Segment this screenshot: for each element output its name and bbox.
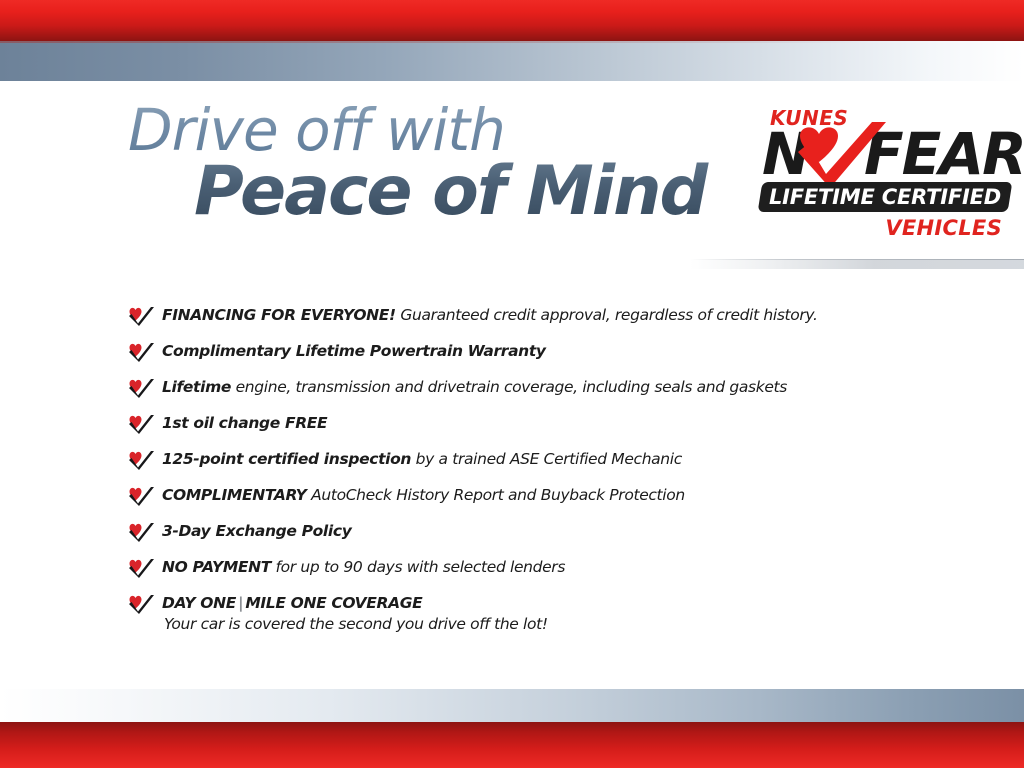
list-item-text: 125-point certified inspection by a trai…	[162, 449, 928, 469]
bottom-red-band	[0, 722, 1024, 768]
headline: Drive off with Peace of Mind	[128, 99, 748, 229]
list-item-strong: 125-point certified inspection	[162, 450, 411, 468]
list-item-normal: AutoCheck History Report and Buyback Pro…	[307, 486, 685, 504]
header-divider	[690, 259, 1024, 269]
list-item: FINANCING FOR EVERYONE! Guaranteed credi…	[128, 305, 928, 327]
heart-check-icon	[128, 486, 154, 506]
list-item-strong: 3-Day Exchange Policy	[162, 522, 351, 540]
list-item: NO PAYMENT for up to 90 days with select…	[128, 557, 928, 579]
list-item-strong: Lifetime	[162, 378, 231, 396]
list-item: Complimentary Lifetime Powertrain Warran…	[128, 341, 928, 363]
list-item-normal: engine, transmission and drivetrain cove…	[231, 378, 787, 396]
list-item-subtext: Your car is covered the second you drive…	[164, 613, 928, 635]
list-item-separator: |	[236, 594, 245, 612]
heart-check-icon	[128, 306, 154, 326]
headline-line-2: Peace of Mind	[194, 155, 748, 229]
list-item: 125-point certified inspection by a trai…	[128, 449, 928, 471]
heart-check-icon	[794, 122, 886, 188]
list-item-strong: 1st oil change FREE	[162, 414, 327, 432]
bottom-gray-band	[0, 689, 1024, 722]
list-item-text: 1st oil change FREE	[162, 413, 928, 433]
list-item-text: DAY ONE|MILE ONE COVERAGE	[162, 593, 928, 613]
heart-check-icon	[128, 594, 154, 614]
list-item: DAY ONE|MILE ONE COVERAGE Your car is co…	[128, 593, 928, 635]
logo-vehicles-text: VEHICLES	[885, 216, 1002, 240]
list-item-strong: Complimentary Lifetime Powertrain Warran…	[162, 342, 546, 360]
list-item: Lifetime engine, transmission and drivet…	[128, 377, 928, 399]
top-gray-band	[0, 41, 1024, 81]
logo-certified-label: LIFETIME CERTIFIED	[760, 182, 1010, 212]
header-section: Drive off with Peace of Mind KUNES N FEA…	[0, 81, 1024, 266]
list-item-strong: DAY ONE	[162, 594, 236, 612]
list-item-normal: Guaranteed credit approval, regardless o…	[396, 306, 818, 324]
heart-check-icon	[128, 450, 154, 470]
list-item-text: Lifetime engine, transmission and drivet…	[162, 377, 928, 397]
list-item-text: NO PAYMENT for up to 90 days with select…	[162, 557, 928, 577]
logo-nofear-wordmark: N FEAR	[760, 124, 1010, 186]
heart-check-icon	[128, 378, 154, 398]
heart-check-icon	[128, 522, 154, 542]
list-item-strong-2: MILE ONE COVERAGE	[245, 594, 422, 612]
list-item-normal: for up to 90 days with selected lenders	[271, 558, 565, 576]
list-item: 1st oil change FREE	[128, 413, 928, 435]
kunes-no-fear-logo: KUNES N FEAR LIFETIME CERTIFIED VEHICLES	[760, 106, 1010, 251]
list-item: COMPLIMENTARY AutoCheck History Report a…	[128, 485, 928, 507]
list-item-text: 3-Day Exchange Policy	[162, 521, 928, 541]
heart-check-icon	[128, 414, 154, 434]
list-item-strong: NO PAYMENT	[162, 558, 271, 576]
top-red-band	[0, 0, 1024, 41]
heart-check-icon	[128, 342, 154, 362]
list-item: 3-Day Exchange Policy	[128, 521, 928, 543]
list-item-text: COMPLIMENTARY AutoCheck History Report a…	[162, 485, 928, 505]
logo-word-fear: FEAR	[864, 124, 1024, 184]
heart-check-icon	[128, 558, 154, 578]
list-item-strong: COMPLIMENTARY	[162, 486, 307, 504]
benefits-list: FINANCING FOR EVERYONE! Guaranteed credi…	[128, 305, 928, 649]
list-item-strong: FINANCING FOR EVERYONE!	[162, 306, 396, 324]
promo-flyer: Drive off with Peace of Mind KUNES N FEA…	[0, 0, 1024, 768]
list-item-normal: by a trained ASE Certified Mechanic	[411, 450, 682, 468]
list-item-text: FINANCING FOR EVERYONE! Guaranteed credi…	[162, 305, 928, 325]
list-item-text: Complimentary Lifetime Powertrain Warran…	[162, 341, 928, 361]
